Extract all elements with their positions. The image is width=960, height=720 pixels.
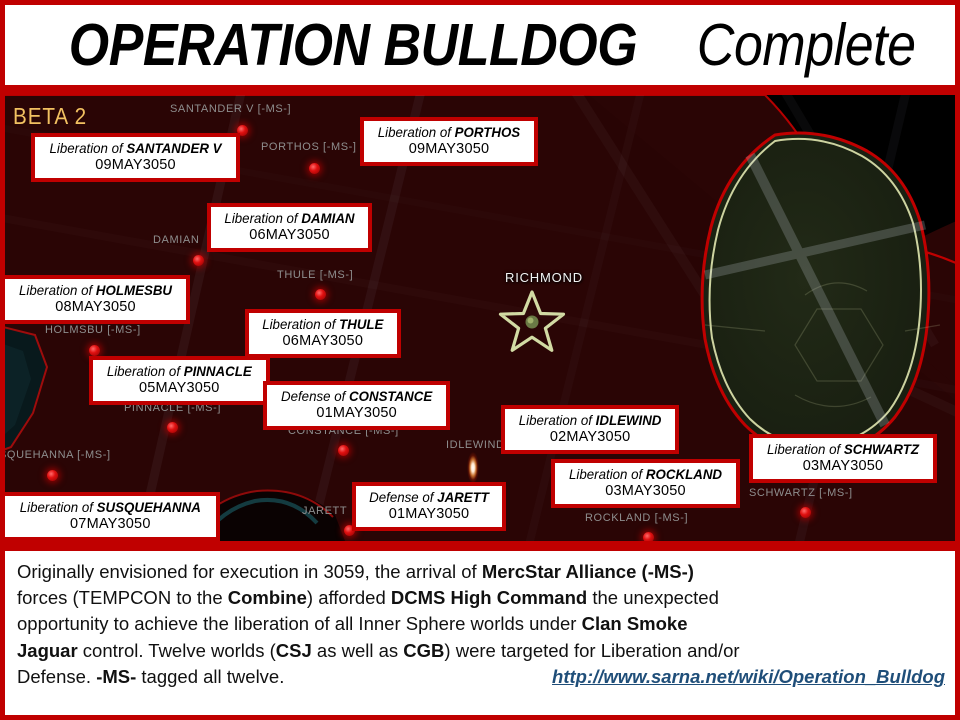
callout-world-name: JARETT [437, 489, 489, 505]
callout-world-name: DAMIAN [301, 210, 354, 226]
campaign-callout-pinnacle[interactable]: Liberation of PINNACLE05MAY3050 [89, 356, 270, 405]
footer-l2a: forces (TEMPCON to the [17, 587, 228, 608]
footer-l5a: Defense. [17, 666, 96, 687]
footer-l4d: as well as [312, 640, 404, 661]
callout-date: 03MAY3050 [565, 483, 726, 500]
callout-world-name: PINNACLE [184, 363, 252, 379]
footer-l4e: CGB [403, 640, 444, 661]
footer-l4c: CSJ [276, 640, 312, 661]
callout-date: 09MAY3050 [374, 141, 524, 158]
callout-date: 01MAY3050 [277, 405, 436, 422]
star-map-canvas[interactable]: BETA 2 RICHMOND SANTANDER V [-MS-]PORTHO… [5, 95, 955, 541]
footer-l1a: Originally envisioned for execution in 3… [17, 561, 482, 582]
footer-paragraph: Originally envisioned for execution in 3… [17, 559, 945, 690]
map-region-tag: BETA 2 [13, 103, 87, 130]
campaign-callout-thule[interactable]: Liberation of THULE06MAY3050 [245, 309, 401, 358]
callout-world-name: HOLMESBU [96, 282, 172, 298]
callout-action: Defense of [281, 388, 349, 404]
callout-action: Liberation of [569, 466, 646, 482]
callout-world-name: SANTANDER V [126, 140, 221, 156]
callout-action-line: Defense of JARETT [369, 489, 489, 506]
callout-world-name: ROCKLAND [646, 466, 722, 482]
footer-l1b: MercStar Alliance (-MS-) [482, 561, 694, 582]
footer-l2c: ) afforded [307, 587, 391, 608]
system-marker-dot[interactable] [47, 470, 58, 481]
callout-action-line: Liberation of PINNACLE [107, 363, 252, 380]
footer-l3b: Clan Smoke [582, 613, 688, 634]
system-label: ROCKLAND [-MS-] [585, 512, 688, 524]
system-label: HOLMSBU [-MS-] [45, 324, 141, 336]
callout-action-line: Liberation of SUSQUEHANNA [20, 499, 201, 516]
callout-action: Liberation of [519, 412, 596, 428]
slide-footer: Originally envisioned for execution in 3… [0, 546, 960, 720]
callout-date: 03MAY3050 [763, 458, 923, 475]
callout-action-line: Liberation of PORTHOS [378, 124, 520, 141]
callout-date: 02MAY3050 [515, 429, 665, 446]
system-label: THULE [-MS-] [277, 269, 353, 281]
page-title: OPERATION BULLDOGComplete [30, 16, 930, 75]
callout-date: 05MAY3050 [103, 380, 256, 397]
campaign-callout-schwartz[interactable]: Liberation of SCHWARTZ03MAY3050 [749, 434, 937, 483]
system-marker-dot[interactable] [193, 255, 204, 266]
callout-action-line: Liberation of ROCKLAND [569, 466, 722, 483]
system-marker-dot[interactable] [800, 507, 811, 518]
callout-action: Liberation of [19, 282, 96, 298]
campaign-callout-idlewind[interactable]: Liberation of IDLEWIND02MAY3050 [501, 405, 679, 454]
footer-l5c: tagged all twelve. [136, 666, 284, 687]
callout-date: 06MAY3050 [221, 227, 358, 244]
callout-date: 08MAY3050 [15, 299, 176, 316]
callout-date: 09MAY3050 [45, 157, 226, 174]
callout-date: 01MAY3050 [366, 506, 492, 523]
callout-action-line: Liberation of HOLMESBU [19, 282, 172, 299]
footer-l4f: ) were targeted for Liberation and/or [444, 640, 739, 661]
callout-action-line: Defense of CONSTANCE [281, 388, 432, 405]
system-label: DAMIAN [153, 234, 199, 246]
callout-world-name: CONSTANCE [349, 388, 432, 404]
callout-action-line: Liberation of DAMIAN [224, 210, 354, 227]
footer-l2e: the unexpected [587, 587, 719, 608]
campaign-callout-porthos[interactable]: Liberation of PORTHOS09MAY3050 [360, 117, 538, 166]
footer-l2d: DCMS High Command [391, 587, 587, 608]
campaign-callout-holmesbu[interactable]: Liberation of HOLMESBU08MAY3050 [5, 275, 190, 324]
system-marker-dot[interactable] [643, 532, 654, 541]
campaign-callout-constance[interactable]: Defense of CONSTANCE01MAY3050 [263, 381, 450, 430]
system-label: SANTANDER V [-MS-] [170, 103, 291, 115]
callout-action: Liberation of [20, 499, 97, 515]
campaign-callout-jarett[interactable]: Defense of JARETT01MAY3050 [352, 482, 506, 531]
presentation-slide: OPERATION BULLDOGComplete [0, 0, 960, 720]
system-label: JARETT [302, 505, 347, 517]
star-map-panel[interactable]: BETA 2 RICHMOND SANTANDER V [-MS-]PORTHO… [0, 90, 960, 546]
system-marker-dot[interactable] [167, 422, 178, 433]
system-marker-dot[interactable] [315, 289, 326, 300]
callout-date: 06MAY3050 [259, 333, 387, 350]
callout-date: 07MAY3050 [15, 516, 206, 533]
system-label: PORTHOS [-MS-] [261, 141, 357, 153]
slide-header: OPERATION BULLDOGComplete [0, 0, 960, 90]
footer-l4a: Jaguar [17, 640, 78, 661]
campaign-callout-santander[interactable]: Liberation of SANTANDER V09MAY3050 [31, 133, 240, 182]
campaign-callout-rockland[interactable]: Liberation of ROCKLAND03MAY3050 [551, 459, 740, 508]
callout-action: Liberation of [50, 140, 127, 156]
footer-l3a: opportunity to achieve the liberation of… [17, 613, 582, 634]
campaign-callout-damian[interactable]: Liberation of DAMIAN06MAY3050 [207, 203, 372, 252]
footer-l4b: control. Twelve worlds ( [78, 640, 276, 661]
callout-action: Liberation of [262, 316, 339, 332]
callout-action-line: Liberation of SCHWARTZ [767, 441, 919, 458]
callout-world-name: IDLEWIND [596, 412, 662, 428]
callout-action: Liberation of [107, 363, 184, 379]
source-url-link[interactable]: http://www.sarna.net/wiki/Operation_Bull… [552, 664, 945, 690]
callout-action: Liberation of [224, 210, 301, 226]
campaign-callout-susquehanna[interactable]: Liberation of SUSQUEHANNA07MAY3050 [5, 492, 220, 541]
callout-action-line: Liberation of THULE [262, 316, 383, 333]
callout-action-line: Liberation of IDLEWIND [519, 412, 662, 429]
callout-world-name: SUSQUEHANNA [97, 499, 201, 515]
callout-world-name: THULE [339, 316, 383, 332]
system-marker-dot[interactable] [338, 445, 349, 456]
star-icon [498, 289, 566, 360]
system-label: SQUEHANNA [-MS-] [5, 449, 111, 461]
title-status-word: Complete [697, 16, 916, 75]
callout-world-name: PORTHOS [455, 124, 521, 140]
callout-action: Defense of [369, 489, 437, 505]
callout-world-name: SCHWARTZ [844, 441, 919, 457]
system-marker-dot[interactable] [89, 345, 100, 356]
system-label: SCHWARTZ [-MS-] [749, 487, 853, 499]
title-operation-name: OPERATION BULLDOG [69, 16, 637, 75]
callout-action: Liberation of [767, 441, 844, 457]
callout-action: Liberation of [378, 124, 455, 140]
footer-l5b: -MS- [96, 666, 136, 687]
system-marker-dot[interactable] [309, 163, 320, 174]
callout-action-line: Liberation of SANTANDER V [50, 140, 222, 157]
richmond-label: RICHMOND [505, 270, 583, 285]
footer-l2b: Combine [228, 587, 307, 608]
